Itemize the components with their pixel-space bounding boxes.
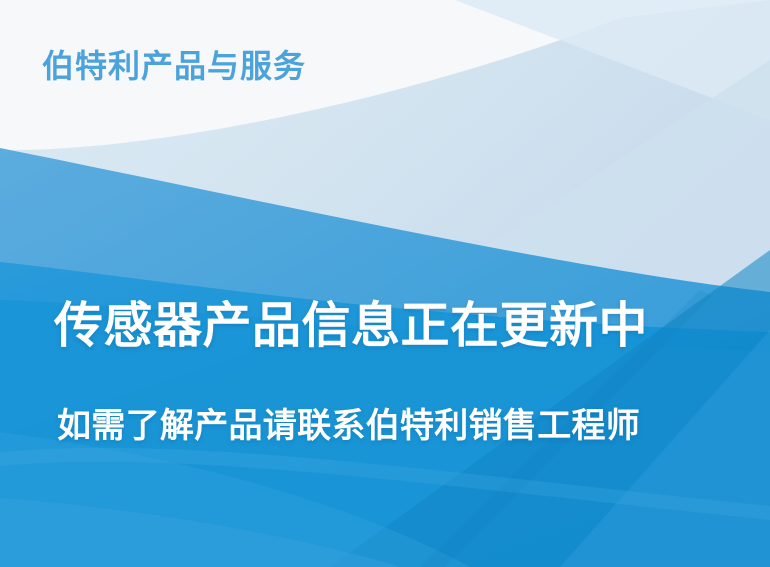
headline-text: 传感器产品信息正在更新中	[54, 297, 716, 355]
page-title: 伯特利产品与服务	[42, 46, 306, 86]
subheadline-text: 如需了解产品请联系伯特利销售工程师	[57, 404, 747, 448]
banner-text-layer: 伯特利产品与服务 传感器产品信息正在更新中 如需了解产品请联系伯特利销售工程师	[0, 0, 770, 567]
promo-banner: 伯特利产品与服务 传感器产品信息正在更新中 如需了解产品请联系伯特利销售工程师	[0, 0, 770, 567]
